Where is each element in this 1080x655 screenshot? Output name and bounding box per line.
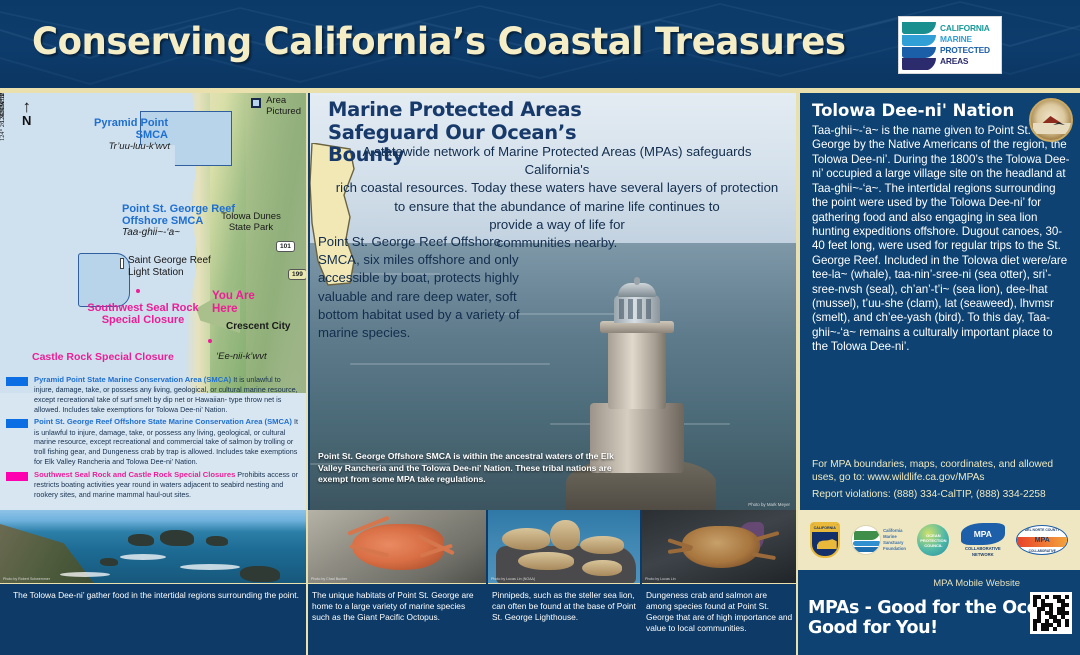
ocean-protection-council-logo: OCEAN PROTECTION COUNCIL <box>917 524 949 556</box>
photo-caption: Pinnipeds, such as the steller sea lion,… <box>492 590 638 623</box>
photo-credit: Photo by Lucas Lin <box>645 577 676 581</box>
mpa-website-link[interactable]: For MPA boundaries, maps, coordinates, a… <box>812 458 1074 484</box>
center-smca-paragraph: Point St. George Reef Offshore SMCA, six… <box>318 233 543 342</box>
photo-credit: Photo by Chad Bucher <box>311 577 347 581</box>
intertidal-coastline-photo: Photo by Robert Schwemmer <box>0 510 306 584</box>
tolowa-dee-ni-nation-seal-icon <box>1029 98 1073 142</box>
map-label-southwest-seal-2: Special Closure <box>78 314 208 326</box>
photo-caption: The Tolowa Dee-ni’ gather food in the in… <box>8 590 304 601</box>
collab-line1: COLLABORATIVE <box>961 546 1005 552</box>
area-pictured-line2: Pictured <box>266 107 301 118</box>
legend-swatch-pink-icon <box>6 472 28 481</box>
panel-divider-left <box>306 88 308 655</box>
center-heading-line1: Marine Protected Areas <box>328 99 658 122</box>
right-panel-body: Taa-ghii~-‘a~ is the name given to Point… <box>812 124 1070 355</box>
map-label-crescent-city: Crescent City <box>226 321 290 332</box>
tolowa-dee-ni-nation-panel: Tolowa Dee-ni' Nation Taa-ghii~-‘a~ is t… <box>798 93 1080 510</box>
map-label-tolowa-dunes-2: State Park <box>218 222 284 233</box>
map-label-psg-native: Taa-ghii~-‘a~ <box>122 227 180 238</box>
delnorte-bot: COLLABORATIVE <box>1017 549 1067 553</box>
photo-caption: Dungeness crab and salmon are among spec… <box>646 590 794 634</box>
center-content-panel: Marine Protected Areas Safeguard Our Oce… <box>310 93 796 510</box>
panel-divider-right <box>796 88 798 655</box>
california-marine-protected-areas-logo: CALIFORNIA MARINE PROTECTED AREAS <box>898 16 1002 74</box>
del-norte-county-mpa-logo: DEL NORTE COUNTY MPA COLLABORATIVE <box>1016 525 1068 555</box>
mpa-location-map: ↑ N Area Pictured Pyramid Point SMCA Tr’… <box>0 93 308 510</box>
north-arrow-icon: ↑ <box>22 101 31 113</box>
legend-title: Pyramid Point State Marine Conservation … <box>34 375 231 384</box>
center-photo-credit: Photo by Mark Meyer <box>748 502 790 507</box>
legend-item: Pyramid Point State Marine Conservation … <box>6 375 302 414</box>
legend-swatch-blue-icon <box>6 377 28 386</box>
intro-line-2: rich coastal resources. Today these wate… <box>332 179 782 197</box>
dungeness-crab-photo: Photo by Lucas Lin <box>642 510 798 584</box>
cdfw-logo-label: CALIFORNIA <box>812 524 838 532</box>
intro-line-1: A statewide network of Marine Protected … <box>332 143 782 179</box>
map-legend: Pyramid Point State Marine Conservation … <box>0 371 308 502</box>
photo-credit: Photo by Lucas Lin (NOAA) <box>491 577 535 581</box>
legend-item: Point St. George Reef Offshore State Mar… <box>6 417 302 466</box>
logo-line-marine: MARINE <box>940 34 998 45</box>
collab-main: MPA <box>974 529 992 539</box>
logo-line-california: CALIFORNIA <box>940 23 998 34</box>
map-label-pyramid-point-smca: SMCA <box>76 129 168 141</box>
photo-credit: Photo by Robert Schwemmer <box>3 577 50 581</box>
lighthouse-map-icon <box>120 258 124 269</box>
map-label-you-are-here-2: Here <box>212 303 255 316</box>
southwest-seal-rock-marker <box>136 289 140 293</box>
photo-strip: Photo by Robert Schwemmer Photo by Chad … <box>0 510 798 655</box>
highway-101-shield: 101 <box>276 241 295 252</box>
compass-rose: ↑ N <box>22 101 31 128</box>
legend-swatch-blue-icon <box>6 419 28 428</box>
tribal-waters-note: Point St. George Offshore SMCA is within… <box>318 451 618 486</box>
giant-pacific-octopus-photo: Photo by Chad Bucher <box>308 510 486 584</box>
mpa-mobile-website-label: MPA Mobile Website <box>933 578 1020 589</box>
steller-sea-lions-photo: Photo by Lucas Lin (NOAA) <box>488 510 640 584</box>
map-label-pyramid-point-native: Tr’uu-luu-k’wvt <box>62 141 170 152</box>
logo-line-areas: AREAS <box>940 56 998 67</box>
map-label-castle-rock-native: ‘Ee-nii-k’wvt <box>216 351 267 362</box>
area-pictured-key: Area Pictured <box>251 96 301 118</box>
california-marine-sanctuary-foundation-logo: California Marine Sanctuary Foundation <box>851 525 906 555</box>
page-title: Conserving California’s Coastal Treasure… <box>32 20 846 63</box>
right-panel-links: For MPA boundaries, maps, coordinates, a… <box>812 458 1074 500</box>
logo-line-protected: PROTECTED <box>940 45 998 56</box>
area-pictured-swatch-icon <box>251 98 261 108</box>
wave-mark-icon <box>902 20 936 70</box>
coordinate-124-26-352-w: 124° 26.352' W <box>0 93 6 141</box>
map-label-southwest-seal-1: Southwest Seal Rock <box>78 302 208 314</box>
partner-logo-bar: CALIFORNIA California Marine Sanctuary F… <box>798 510 1080 570</box>
report-violations-line: Report violations: (888) 334-CalTIP, (88… <box>812 489 1074 500</box>
castle-rock-marker <box>208 339 212 343</box>
intro-line-4: provide a way of life for <box>332 216 782 234</box>
legend-title: Point St. George Reef Offshore State Mar… <box>34 417 292 426</box>
slogan-panel: MPA Mobile Website MPAs - Good for the O… <box>798 570 1080 655</box>
delnorte-top: DEL NORTE COUNTY <box>1017 528 1067 532</box>
legend-item: Southwest Seal Rock and Castle Rock Spec… <box>6 470 302 500</box>
map-label-light-station-2: Light Station <box>128 267 211 279</box>
map-label-tolowa-dunes-1: Tolowa Dunes <box>218 211 284 222</box>
map-label-pyramid-point: Pyramid Point <box>76 117 168 129</box>
north-label: N <box>22 113 31 128</box>
photo-captions: The Tolowa Dee-ni’ gather food in the in… <box>0 586 798 655</box>
cdfw-logo: CALIFORNIA <box>810 522 840 558</box>
highway-199-shield: 199 <box>288 269 307 280</box>
mpa-interpretive-sign: Conserving California’s Coastal Treasure… <box>0 0 1080 655</box>
intro-line-3: to ensure that the abundance of marine l… <box>332 198 782 216</box>
cmsf-line4: Foundation <box>883 546 906 552</box>
opc-line3: COUNCIL <box>924 543 942 548</box>
map-label-castle-rock: Castle Rock Special Closure <box>32 351 174 363</box>
map-label-you-are-here-1: You Are <box>212 290 255 303</box>
header-banner: Conserving California’s Coastal Treasure… <box>0 0 1080 88</box>
legend-title: Southwest Seal Rock and Castle Rock Spec… <box>34 470 235 479</box>
qr-code[interactable] <box>1030 592 1072 634</box>
collab-line2: NETWORK <box>961 552 1005 558</box>
photo-caption: The unique habitats of Point St. George … <box>312 590 480 623</box>
delnorte-main: MPA <box>1035 537 1050 544</box>
map-label-light-station-1: Saint George Reef <box>128 255 211 267</box>
mpa-collaborative-network-logo: MPA COLLABORATIVE NETWORK <box>961 523 1005 557</box>
